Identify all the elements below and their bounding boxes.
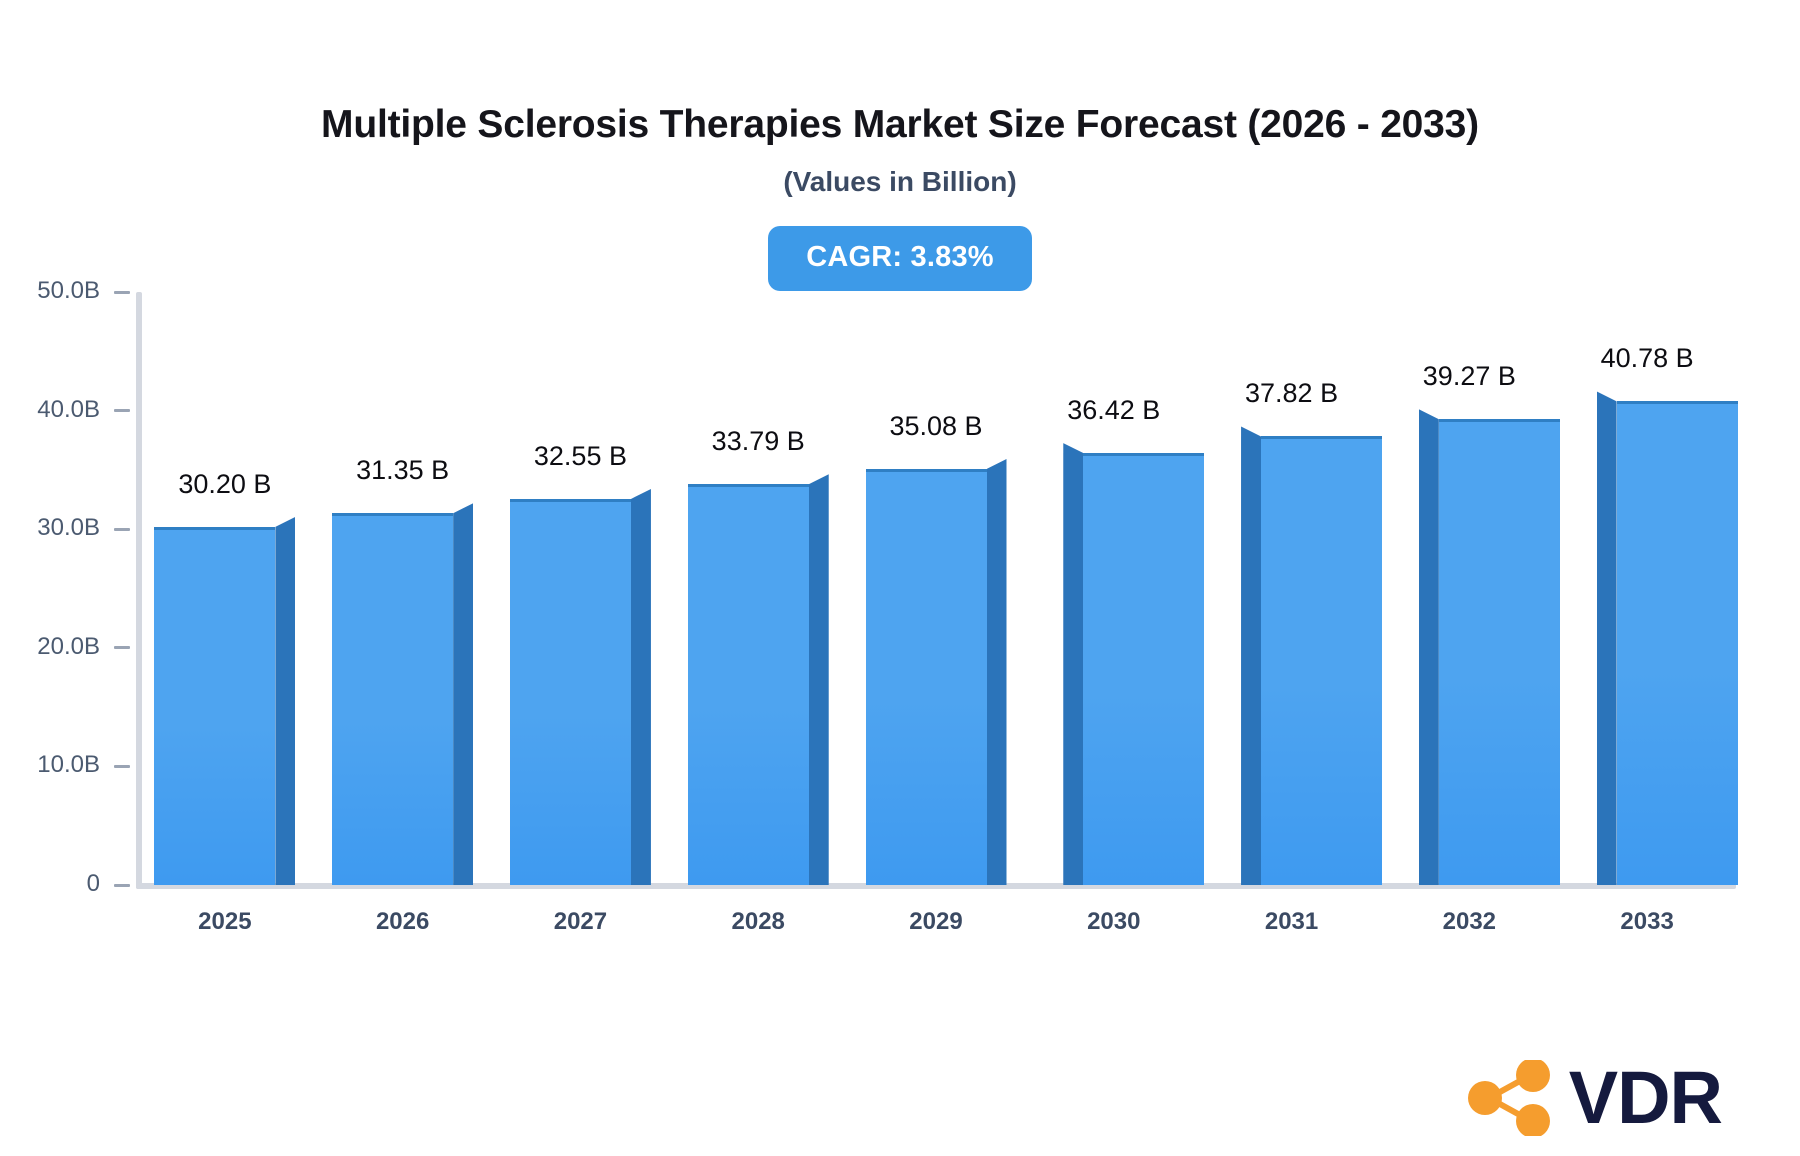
bar-chart-plot-area: 50.0B40.0B30.0B20.0B10.0B0 2025202620272… [0,0,1800,1156]
bar-3d-body [866,292,1007,885]
y-axis-tick-mark [114,765,130,768]
x-axis-category-label: 2025 [125,908,325,936]
x-axis-category-label: 2030 [1014,908,1214,936]
bar-front-face [866,469,987,885]
bar-side-face [987,459,1007,885]
bar-column[interactable] [154,292,295,885]
bar-side-face [1597,391,1617,885]
y-axis-tick-mark [114,884,130,887]
bar-front-face [1439,419,1560,885]
y-axis-tick-mark [114,291,130,294]
bar-column[interactable] [510,292,651,885]
x-axis-category-label: 2028 [658,908,858,936]
bar-front-face [510,499,631,885]
y-axis-tick-label: 20.0B [37,633,100,661]
bar-side-face [1419,409,1439,885]
x-axis-category-label: 2029 [836,908,1036,936]
bar-front-face [332,513,453,885]
bar-column[interactable] [866,292,1007,885]
bar-front-face [154,527,275,885]
bar-front-face [1617,401,1738,885]
bar-side-face [631,489,651,885]
bar-3d-body [332,292,473,885]
x-axis-category-label: 2026 [303,908,503,936]
y-axis-tick-label: 50.0B [37,277,100,305]
vdr-logo: VDR [1463,1060,1722,1136]
bar-value-label: 40.78 B [1497,343,1797,374]
bar-3d-body [154,292,295,885]
bar-side-face [1063,443,1083,885]
bar-front-face [1261,436,1382,885]
y-axis-tick-label: 40.0B [37,396,100,424]
bar-front-face [1083,453,1204,885]
bar-front-face [688,484,809,885]
bar-side-face [809,474,829,885]
x-axis-category-label: 2031 [1192,908,1392,936]
y-axis-tick-label: 0 [87,870,100,898]
bar-side-face [1241,426,1261,885]
y-axis-tick-label: 10.0B [37,751,100,779]
x-axis-category-label: 2033 [1547,908,1747,936]
bar-column[interactable] [332,292,473,885]
y-axis-tick-label: 30.0B [37,514,100,542]
share-nodes-icon [1463,1060,1559,1136]
y-axis-tick-mark [114,528,130,531]
bar-side-face [453,503,473,885]
vdr-logo-text: VDR [1569,1061,1722,1135]
x-axis-category-label: 2032 [1369,908,1569,936]
y-axis-tick-mark [114,409,130,412]
y-axis-tick-mark [114,646,130,649]
x-axis-category-label: 2027 [480,908,680,936]
bar-3d-body [510,292,651,885]
bar-3d-body [688,292,829,885]
bar-column[interactable] [688,292,829,885]
bar-side-face [275,517,295,885]
